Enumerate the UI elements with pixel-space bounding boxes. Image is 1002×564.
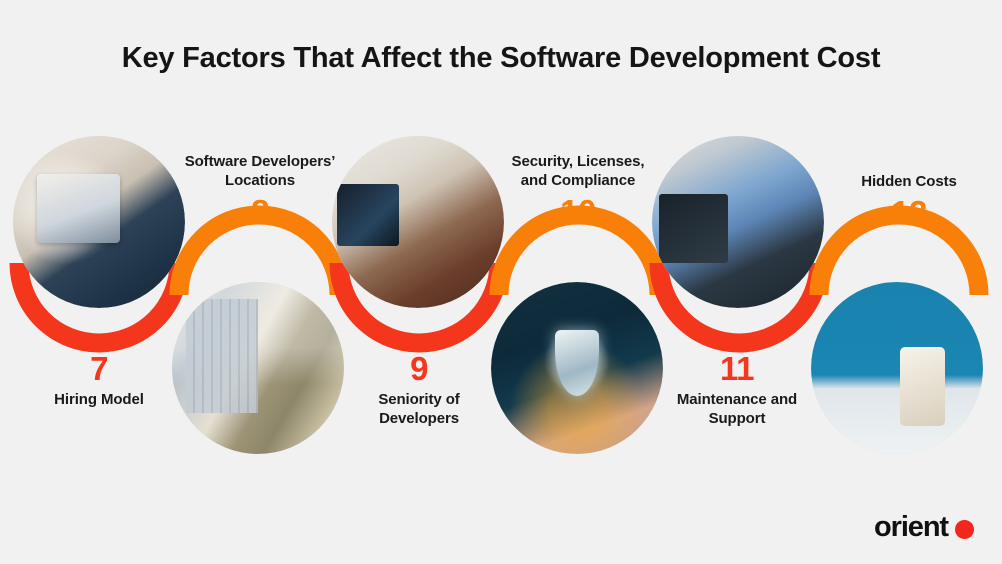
step-node-8: Software Developers’ Locations 8 (165, 152, 355, 230)
step-label-11: Maintenance and Support (645, 390, 829, 428)
infographic-canvas: Key Factors That Affect the Software Dev… (0, 0, 1002, 564)
video-call-interview-photo (13, 136, 185, 308)
step-image-10 (491, 282, 663, 454)
step-number-12: 12 (818, 196, 1000, 231)
security-shield-photo (491, 282, 663, 454)
orient-logo: orient (874, 513, 974, 542)
step-node-10: Security, Licenses, and Compliance 10 (486, 152, 670, 230)
senior-developer-presenting-photo (332, 136, 504, 308)
step-node-9: 9 Seniority of Developers (330, 352, 508, 428)
step-image-8 (172, 282, 344, 454)
logo-wordmark: orient (874, 513, 948, 542)
step-label-9: Seniority of Developers (330, 390, 508, 428)
developer-with-laptop-photo (172, 282, 344, 454)
step-number-10: 10 (486, 195, 670, 230)
step-number-9: 9 (330, 352, 508, 387)
step-node-7: 7 Hiring Model (8, 352, 190, 409)
step-label-12: Hidden Costs (818, 172, 1000, 191)
step-number-7: 7 (8, 352, 190, 387)
step-image-12 (811, 282, 983, 454)
step-number-8: 8 (165, 195, 355, 230)
cost-blocks-photo (811, 282, 983, 454)
step-label-10: Security, Licenses, and Compliance (486, 152, 670, 190)
step-node-11: 11 Maintenance and Support (645, 352, 829, 428)
step-image-9 (332, 136, 504, 308)
step-number-11: 11 (645, 352, 829, 387)
step-label-7: Hiring Model (8, 390, 190, 409)
step-label-8: Software Developers’ Locations (165, 152, 355, 190)
step-image-7 (13, 136, 185, 308)
logo-dot-icon (955, 520, 974, 539)
page-title: Key Factors That Affect the Software Dev… (0, 42, 1002, 75)
step-node-12: Hidden Costs 12 (818, 172, 1000, 231)
support-agent-headset-photo (652, 136, 824, 308)
step-image-11 (652, 136, 824, 308)
